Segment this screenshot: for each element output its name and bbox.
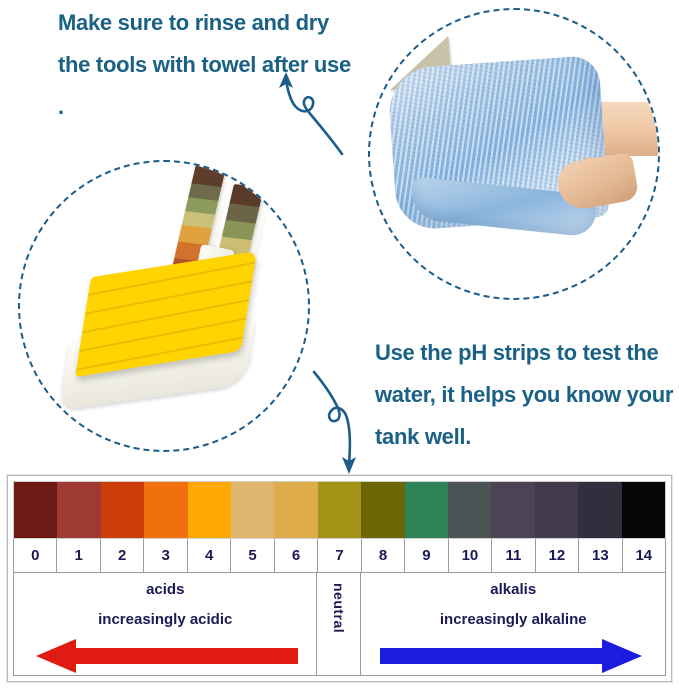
ph-swatch-5 xyxy=(231,482,274,538)
ph-swatch-10 xyxy=(448,482,491,538)
ph-value-8: 8 xyxy=(362,539,405,572)
acids-title: acids xyxy=(146,581,184,598)
curved-arrow-down-icon xyxy=(306,366,396,482)
ph-value-14: 14 xyxy=(623,539,665,572)
increasingly-alkaline-arrow-icon xyxy=(378,638,648,674)
ph-band-acids: acids increasingly acidic xyxy=(14,573,317,675)
ph-value-11: 11 xyxy=(492,539,535,572)
ph-swatch-13 xyxy=(578,482,621,538)
ph-value-10: 10 xyxy=(449,539,492,572)
infographic-canvas: Make sure to rinse and dry the tools wit… xyxy=(0,0,679,689)
ph-bands-row: acids increasingly acidic neutral alkali… xyxy=(13,573,666,676)
ph-swatch-2 xyxy=(101,482,144,538)
ph-swatch-7 xyxy=(318,482,361,538)
ph-value-2: 2 xyxy=(101,539,144,572)
ph-value-12: 12 xyxy=(536,539,579,572)
ph-scale-chart: 0 1 2 3 4 5 6 7 8 9 10 11 12 13 14 acids… xyxy=(7,475,672,682)
ph-swatch-0 xyxy=(14,482,57,538)
ph-value-5: 5 xyxy=(231,539,274,572)
ph-swatch-14 xyxy=(622,482,665,538)
ph-swatch-1 xyxy=(57,482,100,538)
ph-color-swatch-row xyxy=(13,481,666,539)
ph-value-13: 13 xyxy=(579,539,622,572)
ph-number-row: 0 1 2 3 4 5 6 7 8 9 10 11 12 13 14 xyxy=(13,539,666,573)
ph-swatch-4 xyxy=(188,482,231,538)
caption-ph-tip: Use the pH strips to test the water, it … xyxy=(375,332,675,458)
ph-value-7: 7 xyxy=(318,539,361,572)
ph-swatch-8 xyxy=(361,482,404,538)
ph-swatch-6 xyxy=(274,482,317,538)
ph-value-6: 6 xyxy=(275,539,318,572)
booklet-scene xyxy=(20,162,308,450)
ph-value-3: 3 xyxy=(144,539,187,572)
photo-towel-drying-tool xyxy=(368,8,660,300)
ph-swatch-9 xyxy=(405,482,448,538)
alkalis-subtitle: increasingly alkaline xyxy=(440,611,587,628)
ph-band-neutral: neutral xyxy=(317,573,361,675)
neutral-label: neutral xyxy=(331,583,347,633)
ph-swatch-3 xyxy=(144,482,187,538)
towel-scene xyxy=(370,10,658,298)
alkalis-title: alkalis xyxy=(490,581,536,598)
ph-swatch-12 xyxy=(535,482,578,538)
ph-value-9: 9 xyxy=(405,539,448,572)
ph-swatch-11 xyxy=(491,482,534,538)
curved-arrow-up-icon xyxy=(272,66,352,156)
ph-band-alkalis: alkalis increasingly alkaline xyxy=(361,573,665,675)
photo-ph-strip-booklet xyxy=(18,160,310,452)
acids-subtitle: increasingly acidic xyxy=(98,611,232,628)
increasingly-acidic-arrow-icon xyxy=(30,638,300,674)
ph-value-1: 1 xyxy=(57,539,100,572)
ph-value-4: 4 xyxy=(188,539,231,572)
ph-value-0: 0 xyxy=(14,539,57,572)
